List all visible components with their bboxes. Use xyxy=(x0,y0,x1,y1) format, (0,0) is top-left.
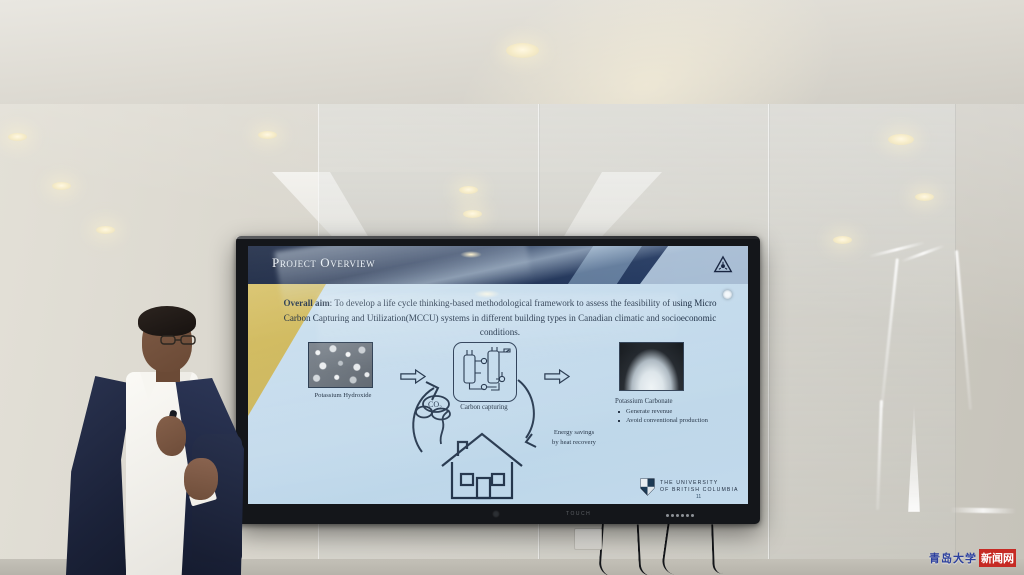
wall-outlet-plate xyxy=(574,528,602,550)
presenter xyxy=(64,306,244,575)
ubc-crest-icon xyxy=(640,478,655,496)
downlight xyxy=(506,43,539,58)
slide-title: Project Overview xyxy=(272,255,375,271)
wall-mounted-display[interactable]: Project Overview Overall aim: To develop… xyxy=(236,236,760,524)
stage-output-details: Potassium Carbonate Generate revenue Avo… xyxy=(615,398,731,426)
downlight xyxy=(459,186,478,194)
stage-input: Potassium Hydroxide xyxy=(308,342,378,399)
downlight xyxy=(833,236,852,244)
slide-number: 11 xyxy=(696,494,701,500)
downlight xyxy=(258,131,277,139)
glass-partition-panel xyxy=(768,104,956,575)
k2co3-powder-photo xyxy=(619,342,684,391)
list-item: Avoid conventional production xyxy=(615,416,731,425)
watermark-badge: 新闻网 xyxy=(979,549,1016,567)
eyeglasses-icon xyxy=(160,332,196,343)
carbon-capture-diagram xyxy=(453,342,517,402)
display-brand-label: TOUCH xyxy=(566,511,591,517)
watermark: 青岛大学 新闻网 xyxy=(929,549,1016,567)
downlight xyxy=(52,182,71,190)
ubc-logo: THE UNIVERSITY OF BRITISH COLUMBIA xyxy=(640,478,739,496)
screen-sensor-dot xyxy=(723,290,732,299)
presentation-slide: Project Overview Overall aim: To develop… xyxy=(248,246,748,504)
koh-granules-photo xyxy=(308,342,373,388)
aim-lead-label: Overall aim xyxy=(283,298,329,308)
recycle-icon xyxy=(712,254,734,276)
stage-input-caption: Potassium Hydroxide xyxy=(308,392,378,399)
display-control-dots xyxy=(666,514,694,517)
aim-separator: : xyxy=(330,298,333,308)
co2-emission-icon: CO₂ xyxy=(411,394,477,455)
ubc-org-line1: THE UNIVERSITY xyxy=(660,480,739,487)
ubc-org-line2: OF BRITISH COLUMBIA xyxy=(660,487,739,494)
conference-room-scene: Project Overview Overall aim: To develop… xyxy=(0,0,1024,575)
band-accent-shape xyxy=(568,246,642,284)
downlight xyxy=(463,210,482,218)
display-screen[interactable]: Project Overview Overall aim: To develop… xyxy=(248,246,748,504)
energy-label-line2: by heat recovery xyxy=(552,439,596,446)
list-item: Generate revenue xyxy=(615,407,731,416)
downlight xyxy=(888,134,914,145)
stage-output-caption: Potassium Carbonate xyxy=(615,398,731,405)
slide-aim-text: Overall aim: To develop a life cycle thi… xyxy=(278,296,722,340)
stage-output xyxy=(619,342,689,391)
aim-body-text: To develop a life cycle thinking-based m… xyxy=(284,298,717,337)
energy-savings-label: Energy savings by heat recovery xyxy=(526,428,622,447)
downlight xyxy=(915,193,934,201)
ir-sensor-icon xyxy=(492,510,500,518)
svg-text:CO₂: CO₂ xyxy=(428,400,442,409)
stage-output-bullets: Generate revenue Avoid conventional prod… xyxy=(615,407,731,426)
downlight xyxy=(96,226,115,234)
bezel-highlight xyxy=(236,236,760,239)
downlight xyxy=(8,133,27,141)
energy-label-line1: Energy savings xyxy=(554,429,594,436)
hand-left xyxy=(156,416,186,456)
watermark-name: 青岛大学 xyxy=(929,550,977,566)
hand-right xyxy=(184,458,218,500)
